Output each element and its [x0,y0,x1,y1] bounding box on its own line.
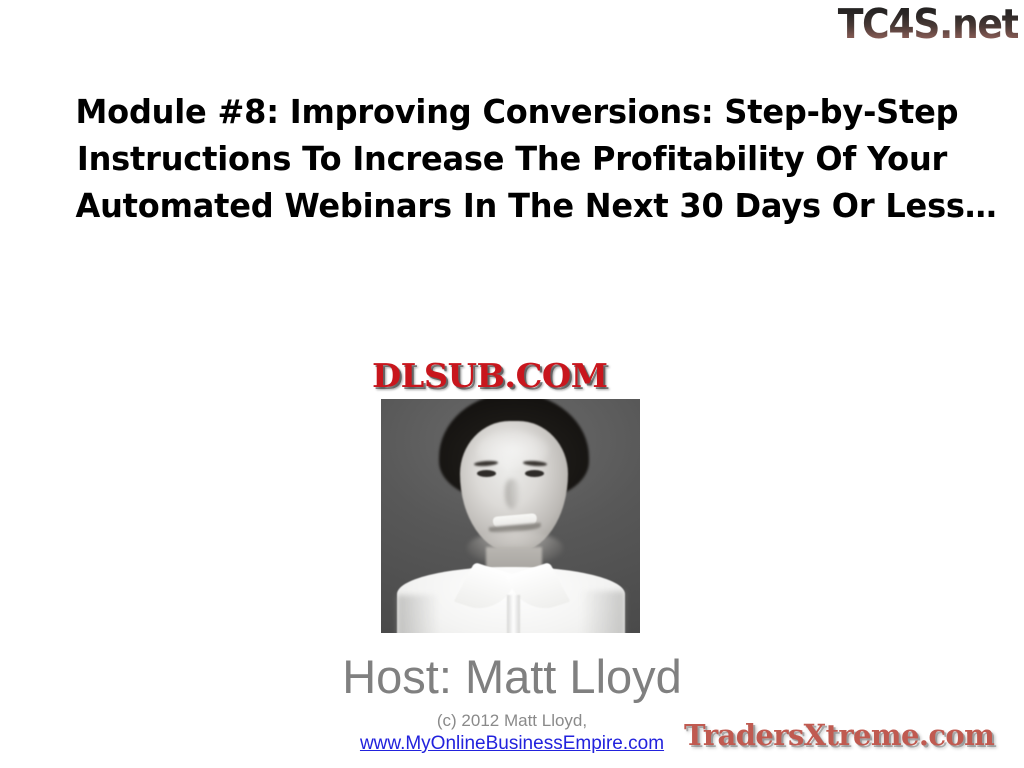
tradersxtreme-watermark: TradersXtreme.com [684,717,994,753]
photo-eye-left [477,470,496,477]
tc4s-watermark: TC4S.net [837,2,1018,46]
photo-shadow-left [397,595,439,633]
slide-title: Module #8: Improving Conversions: Step-b… [76,88,949,229]
photo-eye-right [525,470,544,477]
photo-nose [505,479,519,509]
presentation-slide: TC4S.net Module #8: Improving Conversion… [0,0,1024,768]
title-line-3: Automated Webinars In The Next 30 Days O… [76,182,949,229]
photo-shadow-right [581,591,625,633]
photo-shirt-placket [507,595,520,633]
dlsub-watermark: DLSUB.COM [372,357,607,395]
title-line-1: Module #8: Improving Conversions: Step-b… [76,88,949,135]
title-line-2: Instructions To Increase The Profitabili… [76,135,949,182]
host-label: Host: Matt Lloyd [0,650,1024,704]
host-headshot-photo [381,399,640,633]
